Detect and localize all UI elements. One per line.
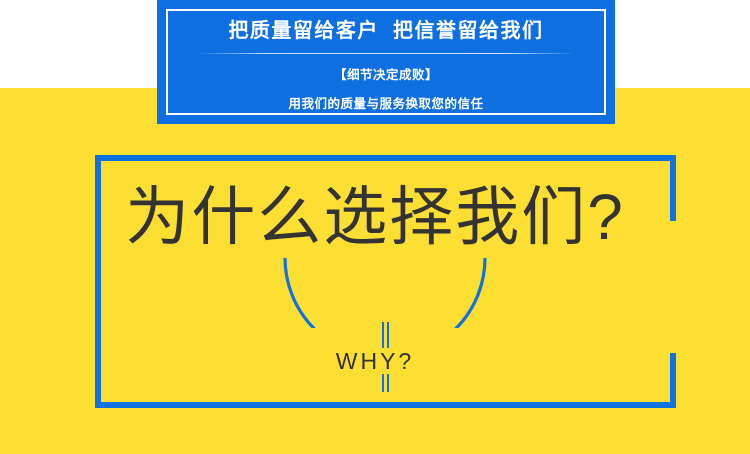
arc-icon (283, 258, 487, 328)
page-title: 为什么选择我们? (0, 185, 750, 249)
why-label-wrapper: WHY? (0, 348, 750, 376)
why-label: WHY? (330, 348, 420, 374)
bracket-top-line (95, 155, 676, 161)
bracket-bottom-line (95, 402, 676, 408)
poster-root: 把质量留给客户 把信誉留给我们 【细节决定成败】 用我们的质量与服务换取您的信任… (0, 0, 750, 454)
header-title: 把质量留给客户 把信誉留给我们 (228, 18, 543, 44)
header-content: 把质量留给客户 把信誉留给我们 【细节决定成败】 用我们的质量与服务换取您的信任 (157, 0, 615, 124)
arc-decoration (283, 258, 487, 328)
header-banner: 把质量留给客户 把信誉留给我们 【细节决定成败】 用我们的质量与服务换取您的信任 (157, 0, 615, 124)
header-subtitle-secondary: 用我们的质量与服务换取您的信任 (288, 93, 483, 112)
header-subtitle-primary: 【细节决定成败】 (334, 64, 438, 83)
header-divider (200, 53, 572, 54)
